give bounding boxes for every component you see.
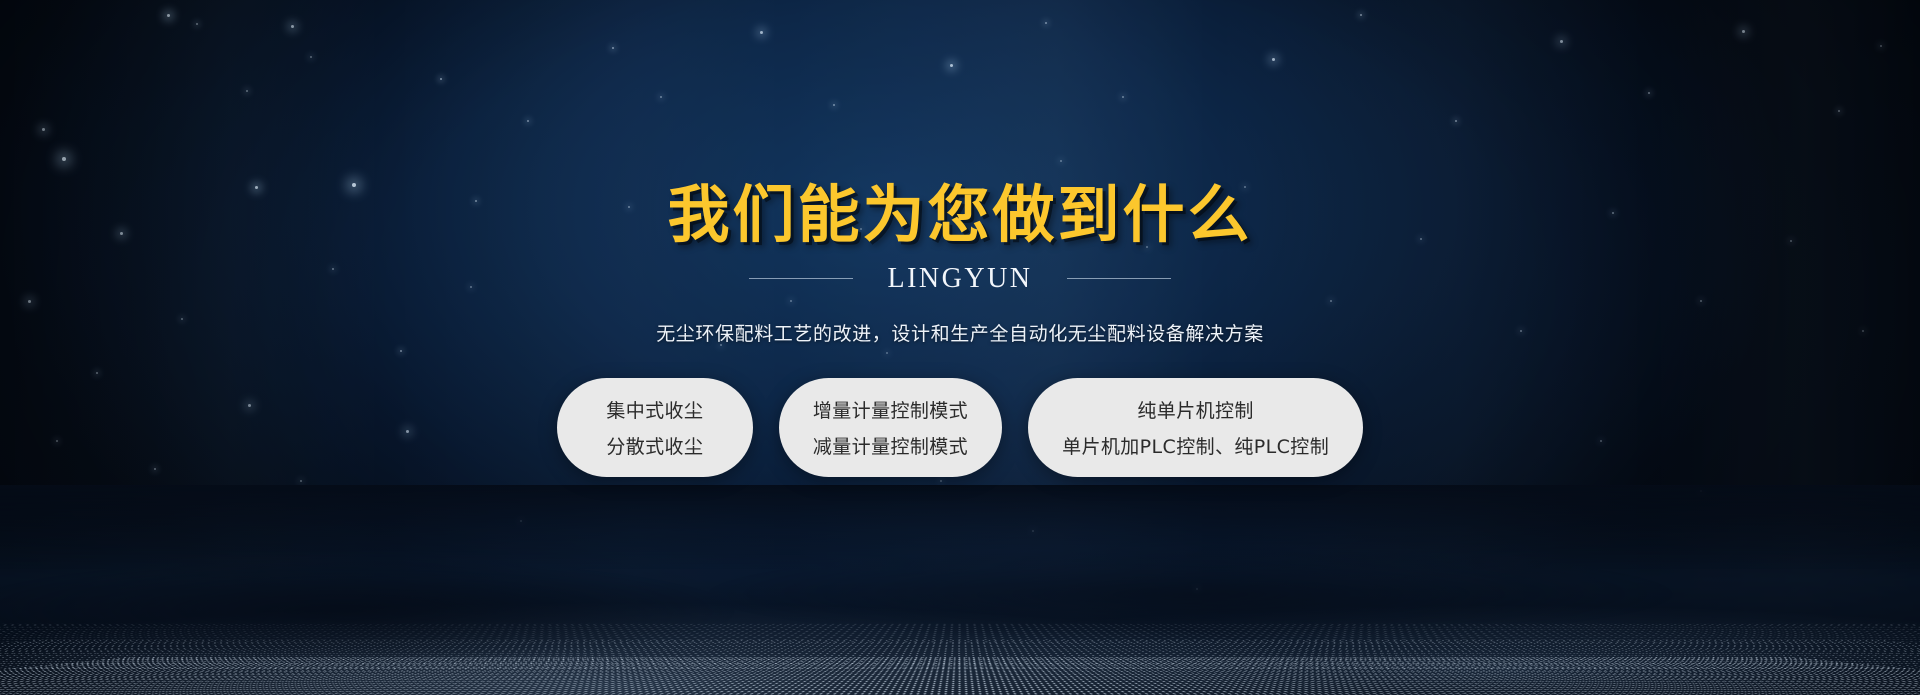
banner-subtitle-en: LINGYUN: [887, 263, 1032, 295]
feature-pill-group: 集中式收尘 分散式收尘 增量计量控制模式 减量计量控制模式 纯单片机控制 单片机…: [557, 378, 1363, 477]
subtitle-rule-right: [1067, 278, 1171, 279]
banner-description: 无尘环保配料工艺的改进，设计和生产全自动化无尘配料设备解决方案: [656, 319, 1264, 346]
hero-banner: 我们能为您做到什么 LINGYUN 无尘环保配料工艺的改进，设计和生产全自动化无…: [0, 0, 1920, 695]
pill-line-1: 集中式收尘: [606, 396, 703, 423]
subtitle-rule-left: [749, 278, 853, 279]
feature-pill-dust-collection[interactable]: 集中式收尘 分散式收尘: [557, 378, 753, 477]
pill-line-2: 减量计量控制模式: [813, 432, 968, 459]
banner-headline: 我们能为您做到什么: [667, 182, 1252, 249]
pill-line-1: 纯单片机控制: [1137, 396, 1253, 423]
pill-line-1: 增量计量控制模式: [813, 396, 968, 423]
feature-pill-control-system[interactable]: 纯单片机控制 单片机加PLC控制、纯PLC控制: [1028, 378, 1363, 477]
pill-line-2: 分散式收尘: [606, 432, 703, 459]
feature-pill-metering-mode[interactable]: 增量计量控制模式 减量计量控制模式: [779, 378, 1002, 477]
pill-line-2: 单片机加PLC控制、纯PLC控制: [1062, 432, 1329, 459]
banner-subtitle-row: LINGYUN: [749, 263, 1170, 295]
banner-content: 我们能为您做到什么 LINGYUN 无尘环保配料工艺的改进，设计和生产全自动化无…: [0, 0, 1920, 695]
